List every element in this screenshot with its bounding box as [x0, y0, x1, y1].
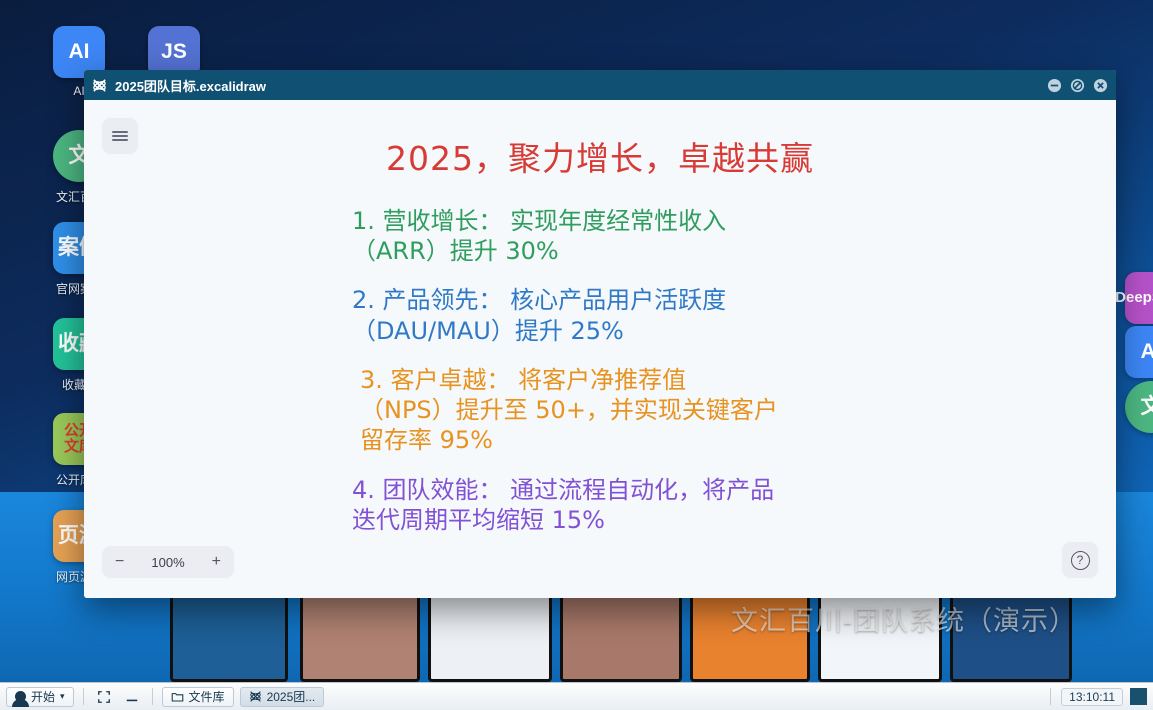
excalidraw-icon	[92, 78, 107, 93]
folder-icon	[171, 690, 184, 703]
taskbar-divider-2	[152, 688, 153, 705]
help-button[interactable]: ?	[1062, 542, 1098, 578]
clock[interactable]: 13:10:11	[1061, 688, 1123, 706]
question-mark-icon: ?	[1071, 551, 1090, 570]
excalidraw-canvas[interactable]: 2025，聚力增长，卓越共赢 1. 营收增长： 实现年度经常性收入 （ARR）提…	[84, 100, 1116, 598]
window-title: 2025团队目标.excalidraw	[115, 76, 266, 95]
taskbar-item-excalidraw[interactable]: 2025团...	[240, 687, 325, 707]
start-label: 开始	[31, 688, 55, 705]
slide-item-2[interactable]: 2. 产品领先： 核心产品用户活跃度 （DAU/MAU）提升 25%	[352, 285, 1076, 345]
maximize-icon[interactable]	[1070, 78, 1085, 93]
zoom-level-label[interactable]: 100%	[151, 555, 184, 570]
taskbar-item-filelib-label: 文件库	[189, 688, 225, 705]
desktop-watermark: 文汇百川-团队系统（演示）	[731, 599, 1077, 638]
minimize-icon[interactable]	[1047, 78, 1062, 93]
deepseek-app-tile: DeepSeek	[1125, 272, 1153, 324]
zoom-out-button[interactable]: −	[115, 553, 124, 571]
minimize-all-button[interactable]	[121, 687, 143, 707]
tray-indicator[interactable]	[1130, 688, 1147, 705]
excalidraw-window[interactable]: 2025团队目标.excalidraw	[84, 70, 1116, 598]
taskbar[interactable]: 开始 ▾ 文件库2025团... 13:10:11	[0, 682, 1153, 710]
zoom-in-button[interactable]: +	[212, 553, 221, 571]
window-titlebar[interactable]: 2025团队目标.excalidraw	[84, 70, 1116, 100]
desktop-icon-wenhui-right-app[interactable]: 文	[1114, 381, 1153, 433]
taskbar-divider	[83, 688, 84, 705]
minimize-all-icon	[125, 690, 139, 704]
desktop-icon-ai-right-app[interactable]: AI	[1114, 326, 1153, 378]
slide-item-3[interactable]: 3. 客户卓越： 将客户净推荐值 （NPS）提升至 50+，并实现关键客户 留存…	[360, 365, 1076, 456]
start-button[interactable]: 开始 ▾	[6, 687, 74, 707]
user-avatar-icon	[15, 691, 26, 702]
desktop-icon-deepseek-app[interactable]: DeepSeek	[1114, 272, 1153, 324]
fullscreen-icon	[97, 690, 111, 704]
fullscreen-button[interactable]	[93, 687, 115, 707]
ai-right-app-tile: AI	[1125, 326, 1153, 378]
desktop: 文汇百川-团队系统（演示） AIAIJS前端文文汇百...案例官网案...收藏收…	[0, 0, 1153, 710]
excalidraw-icon	[249, 690, 262, 703]
chevron-down-icon: ▾	[60, 691, 65, 702]
slide-item-1[interactable]: 1. 营收增长： 实现年度经常性收入 （ARR）提升 30%	[352, 206, 1076, 266]
tray-divider	[1050, 688, 1051, 705]
zoom-control[interactable]: − 100% +	[102, 546, 234, 578]
wenhui-right-app-tile: 文	[1125, 381, 1153, 433]
taskbar-tray: 13:10:11	[1047, 688, 1147, 706]
close-icon[interactable]	[1093, 78, 1108, 93]
slide-item-4[interactable]: 4. 团队效能： 通过流程自动化，将产品 迭代周期平均缩短 15%	[352, 475, 1076, 535]
taskbar-items: 文件库2025团...	[162, 687, 325, 707]
taskbar-item-excalidraw-label: 2025团...	[267, 688, 316, 705]
taskbar-item-filelib[interactable]: 文件库	[162, 687, 234, 707]
slide-item-list: 1. 营收增长： 实现年度经常性收入 （ARR）提升 30%2. 产品领先： 核…	[352, 206, 1076, 554]
slide-title: 2025，聚力增长，卓越共赢	[84, 132, 1116, 180]
